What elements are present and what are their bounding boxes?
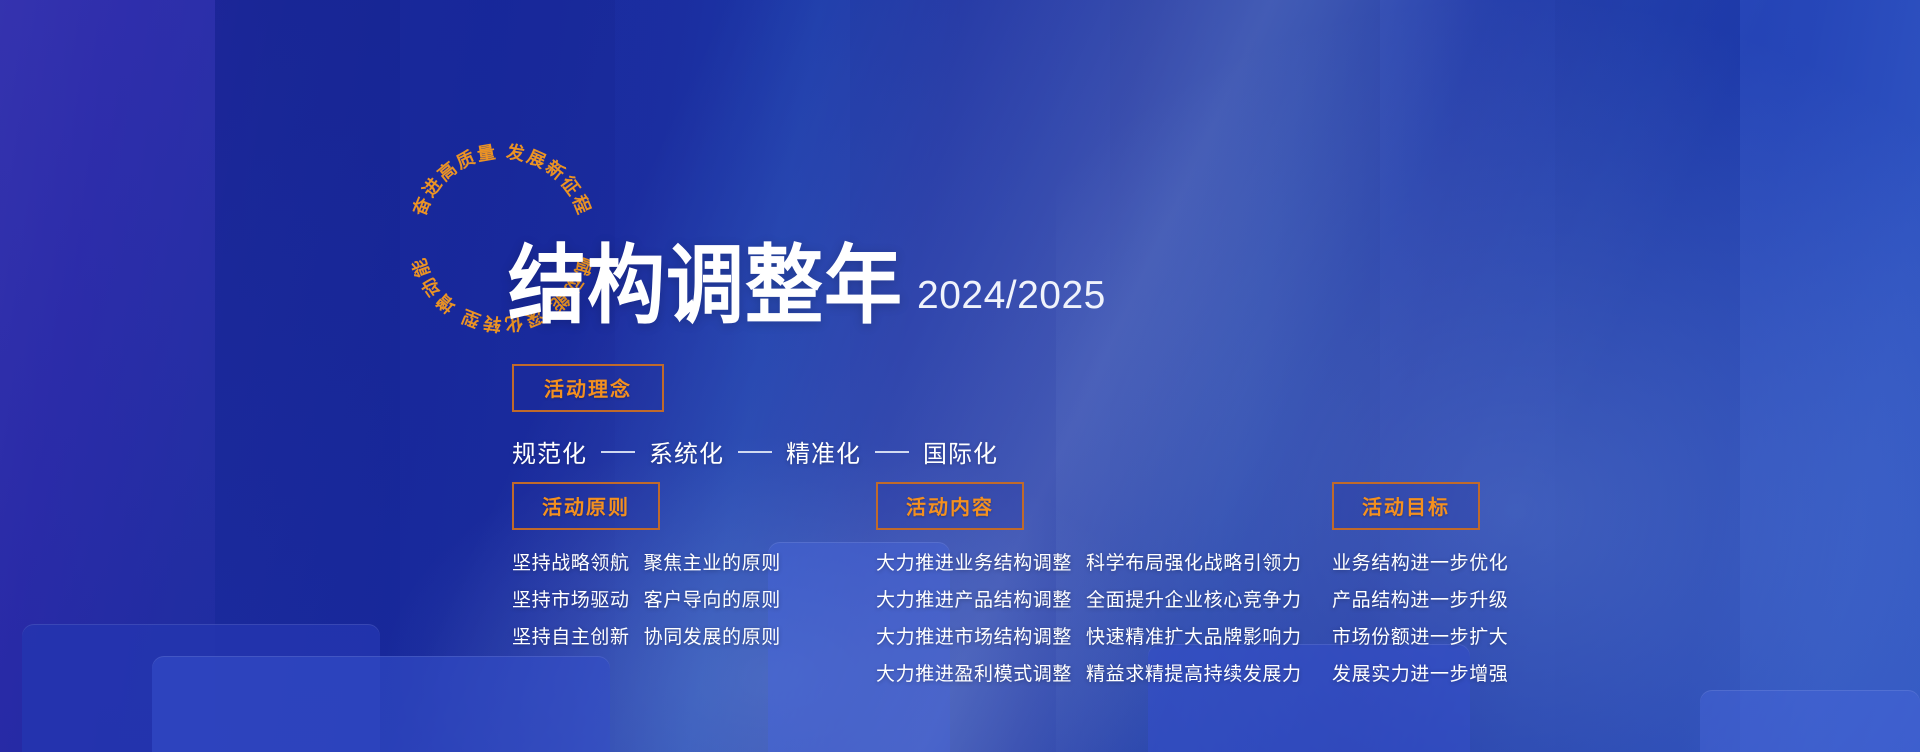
- list-item-left: 大力推进盈利模式调整: [876, 665, 1072, 684]
- list-item-left: 市场份额进一步扩大: [1332, 628, 1508, 647]
- separator-dash-icon: [601, 451, 635, 453]
- concept-section: 活动理念 规范化 系统化 精准化 国际化: [512, 364, 998, 469]
- list-item-right: 精益求精提高持续发展力: [1086, 665, 1302, 684]
- list-item: 坚持自主创新 协同发展的原则: [512, 628, 781, 647]
- badge-goal: 活动目标: [1332, 482, 1480, 530]
- list-item: 大力推进业务结构调整 科学布局强化战略引领力: [876, 554, 1302, 573]
- list-item: 坚持战略领航 聚焦主业的原则: [512, 554, 781, 573]
- list-item-left: 发展实力进一步增强: [1332, 665, 1508, 684]
- column-goal: 活动目标 业务结构进一步优化 产品结构进一步升级 市场份额进一步扩大 发展实力进…: [1332, 482, 1508, 684]
- list-item-right: 聚焦主业的原则: [644, 554, 781, 573]
- concept-item: 精准化: [786, 434, 861, 469]
- list-item: 业务结构进一步优化: [1332, 554, 1508, 573]
- list-item: 大力推进产品结构调整 全面提升企业核心竞争力: [876, 591, 1302, 610]
- column-principle: 活动原则 坚持战略领航 聚焦主业的原则 坚持市场驱动 客户导向的原则 坚持自主创…: [512, 482, 781, 647]
- list-item-left: 大力推进市场结构调整: [876, 628, 1072, 647]
- background-band: [0, 0, 215, 752]
- badge-content: 活动内容: [876, 482, 1024, 530]
- badge-principle: 活动原则: [512, 482, 660, 530]
- list-item-right: 快速精准扩大品牌影响力: [1086, 628, 1302, 647]
- list-item-left: 坚持战略领航: [512, 554, 630, 573]
- list-item-right: 协同发展的原则: [644, 628, 781, 647]
- concept-item: 国际化: [923, 434, 998, 469]
- title-year: 2024/2025: [917, 274, 1106, 326]
- poster-canvas: 奋进高质量 发展新征程 赋动能 深化转型 增动能 结构调整年 2024/2025…: [0, 0, 1920, 752]
- list-item: 大力推进盈利模式调整 精益求精提高持续发展力: [876, 665, 1302, 684]
- list-item: 坚持市场驱动 客户导向的原则: [512, 591, 781, 610]
- list-item-left: 坚持市场驱动: [512, 591, 630, 610]
- list-item-left: 业务结构进一步优化: [1332, 554, 1508, 573]
- background-band: [1555, 0, 1740, 752]
- ring-arc-top-text: 奋进高质量 发展新征程: [408, 141, 595, 220]
- column-content: 活动内容 大力推进业务结构调整 科学布局强化战略引领力 大力推进产品结构调整 全…: [876, 482, 1302, 684]
- list-item-right: 客户导向的原则: [644, 591, 781, 610]
- concept-item: 规范化: [512, 434, 587, 469]
- list-item-left: 产品结构进一步升级: [1332, 591, 1508, 610]
- separator-dash-icon: [875, 451, 909, 453]
- list-item-left: 大力推进业务结构调整: [876, 554, 1072, 573]
- title-row: 结构调整年 2024/2025: [508, 252, 1106, 326]
- list-item: 发展实力进一步增强: [1332, 665, 1508, 684]
- page-title: 结构调整年: [508, 245, 903, 327]
- concept-item: 系统化: [649, 434, 724, 469]
- separator-dash-icon: [738, 451, 772, 453]
- content-rows: 大力推进业务结构调整 科学布局强化战略引领力 大力推进产品结构调整 全面提升企业…: [876, 554, 1302, 684]
- list-item-left: 坚持自主创新: [512, 628, 630, 647]
- concept-items: 规范化 系统化 精准化 国际化: [512, 434, 998, 469]
- list-item-right: 科学布局强化战略引领力: [1086, 554, 1302, 573]
- background-band: [215, 0, 400, 752]
- goal-rows: 业务结构进一步优化 产品结构进一步升级 市场份额进一步扩大 发展实力进一步增强: [1332, 554, 1508, 684]
- list-item: 产品结构进一步升级: [1332, 591, 1508, 610]
- badge-concept: 活动理念: [512, 364, 664, 412]
- list-item-left: 大力推进产品结构调整: [876, 591, 1072, 610]
- list-item: 大力推进市场结构调整 快速精准扩大品牌影响力: [876, 628, 1302, 647]
- principle-rows: 坚持战略领航 聚焦主业的原则 坚持市场驱动 客户导向的原则 坚持自主创新 协同发…: [512, 554, 781, 647]
- background-band: [1740, 0, 1920, 752]
- list-item: 市场份额进一步扩大: [1332, 628, 1508, 647]
- list-item-right: 全面提升企业核心竞争力: [1086, 591, 1302, 610]
